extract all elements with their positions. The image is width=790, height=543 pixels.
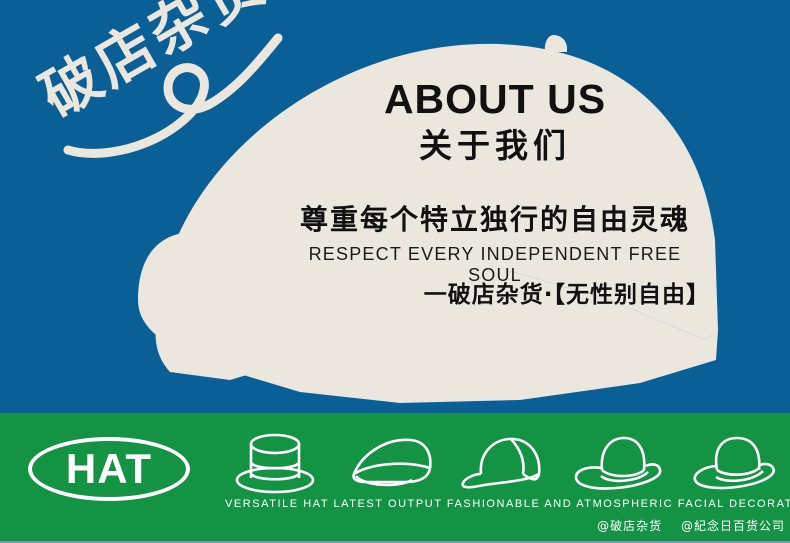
poster-canvas: 破店杂货 ABOUT US 关于我们 尊重每个特立独行的自由灵魂 RESPECT…: [0, 0, 790, 543]
top-hat-icon: [225, 430, 325, 496]
hat-badge-label: HAT: [28, 437, 190, 501]
bowler-hat-icon: [685, 430, 785, 496]
wide-brim-sun-hat-icon: [570, 430, 670, 496]
hat-icon-row: [225, 428, 785, 496]
headline-block: ABOUT US 关于我们 尊重每个特立独行的自由灵魂 RESPECT EVER…: [280, 78, 710, 287]
headline-cn: 关于我们: [280, 127, 710, 165]
credits-line: @破店杂货 @紀念日百货公司: [385, 517, 785, 534]
credit-item: @破店杂货: [597, 519, 662, 533]
headline-en: ABOUT US: [280, 78, 710, 121]
slogan-cn: 尊重每个特立独行的自由灵魂: [280, 203, 710, 237]
hat-badge: HAT: [28, 437, 190, 501]
flat-cap-icon: [340, 430, 440, 496]
attribution-line: 一破店杂货·【无性别自由】: [280, 275, 710, 309]
top-blue-panel: 破店杂货 ABOUT US 关于我们 尊重每个特立独行的自由灵魂 RESPECT…: [0, 0, 790, 413]
bottom-tagline: VERSATILE HAT LATEST OUTPUT FASHIONABLE …: [225, 498, 785, 510]
baseball-cap-icon: [455, 430, 555, 496]
credit-item: @紀念日百货公司: [681, 519, 785, 533]
